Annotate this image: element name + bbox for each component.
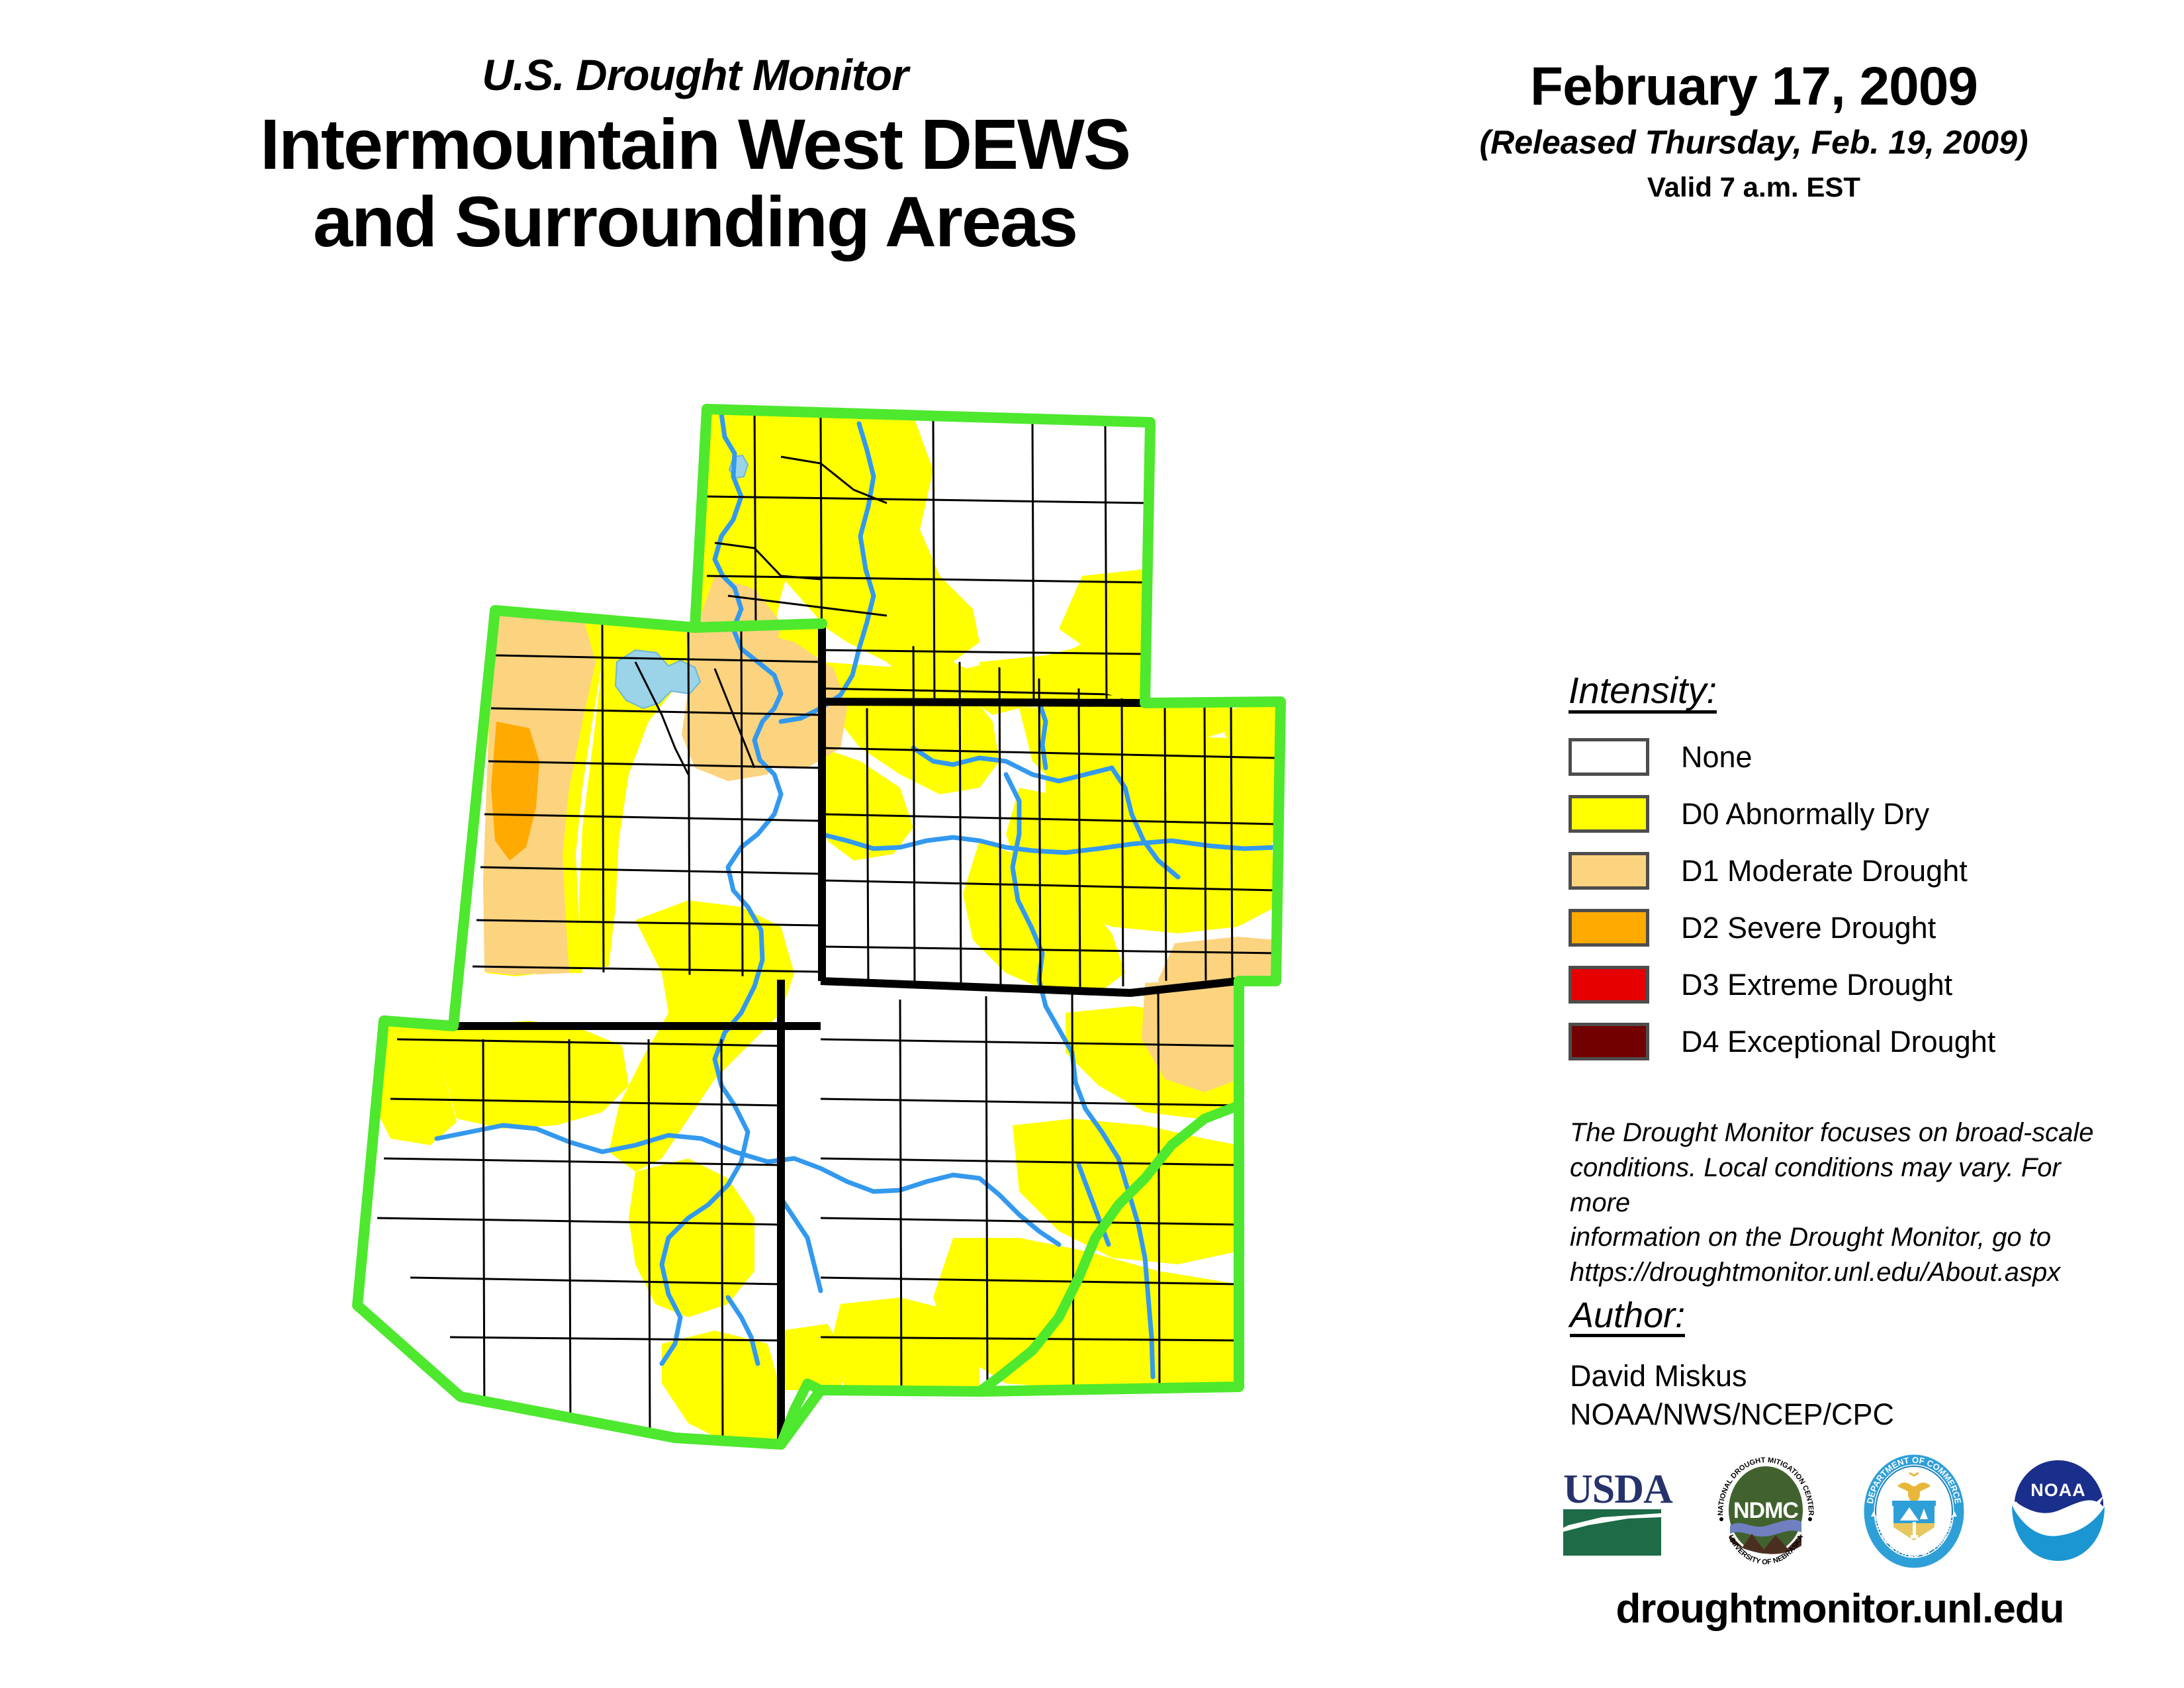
legend-swatch-none bbox=[1569, 738, 1649, 776]
legend-item-d1[interactable]: D1 Moderate Drought bbox=[1569, 850, 2111, 891]
department-of-commerce-seal[interactable]: DEPARTMENT OF COMMERCE UNITED STATES OF … bbox=[1858, 1453, 1970, 1572]
svg-text:NOAA: NOAA bbox=[2030, 1480, 2086, 1500]
legend-item-d3[interactable]: D3 Extreme Drought bbox=[1569, 964, 2111, 1005]
legend-item-d0[interactable]: D0 Abnormally Dry bbox=[1569, 793, 2111, 834]
legend-label-d4: D4 Exceptional Drought bbox=[1681, 1027, 1995, 1056]
legend-item-d2[interactable]: D2 Severe Drought bbox=[1569, 907, 2111, 948]
title-block: U.S. Drought Monitor Intermountain West … bbox=[99, 53, 1291, 260]
legend-swatch-d0 bbox=[1569, 795, 1649, 833]
page-title-line-2: and Surrounding Areas bbox=[99, 183, 1291, 261]
svg-text:USDA: USDA bbox=[1563, 1467, 1673, 1512]
disclaimer-line-2: conditions. Local conditions may vary. F… bbox=[1570, 1150, 2119, 1221]
disclaimer-url[interactable]: https://droughtmonitor.unl.edu/About.asp… bbox=[1570, 1255, 2119, 1290]
svg-text:NDMC: NDMC bbox=[1733, 1498, 1798, 1523]
date-block: February 17, 2009 (Released Thursday, Fe… bbox=[1410, 60, 2098, 201]
legend-swatch-d2 bbox=[1569, 909, 1649, 947]
author-name: David Miskus bbox=[1570, 1357, 2099, 1395]
issue-date: February 17, 2009 bbox=[1410, 60, 2098, 114]
legend-label-d0: D0 Abnormally Dry bbox=[1681, 799, 1929, 829]
drought-map[interactable] bbox=[318, 377, 1310, 1589]
legend-swatch-d3 bbox=[1569, 966, 1649, 1004]
product-name: U.S. Drought Monitor bbox=[99, 53, 1291, 97]
page-title-line-1: Intermountain West DEWS bbox=[99, 106, 1291, 183]
logo-row: USDA NDMC NATIONAL DROUGHT MITIGATION CE… bbox=[1562, 1453, 2111, 1572]
legend-label-d1: D1 Moderate Drought bbox=[1681, 856, 1968, 886]
legend-item-none[interactable]: None bbox=[1569, 736, 2111, 777]
noaa-logo[interactable]: NOAA bbox=[2005, 1455, 2111, 1571]
legend: Intensity: None D0 Abnormally Dry D1 Mod… bbox=[1569, 672, 2111, 1078]
release-date: (Released Thursday, Feb. 19, 2009) bbox=[1410, 126, 2098, 159]
map-canvas[interactable] bbox=[318, 377, 1310, 1589]
author-block: Author: David Miskus NOAA/NWS/NCEP/CPC bbox=[1570, 1297, 2099, 1433]
footer-url[interactable]: droughtmonitor.unl.edu bbox=[1562, 1589, 2118, 1630]
legend-label-none: None bbox=[1681, 742, 1752, 772]
valid-time: Valid 7 a.m. EST bbox=[1410, 173, 2098, 201]
legend-swatch-d1 bbox=[1569, 852, 1649, 890]
author-affiliation: NOAA/NWS/NCEP/CPC bbox=[1570, 1395, 2099, 1434]
legend-item-d4[interactable]: D4 Exceptional Drought bbox=[1569, 1021, 2111, 1062]
author-title: Author: bbox=[1570, 1297, 1685, 1337]
legend-title: Intensity: bbox=[1569, 672, 1717, 714]
legend-label-d2: D2 Severe Drought bbox=[1681, 913, 1936, 943]
usda-logo[interactable]: USDA bbox=[1562, 1462, 1674, 1564]
disclaimer-text: The Drought Monitor focuses on broad-sca… bbox=[1570, 1115, 2119, 1290]
disclaimer-line-1: The Drought Monitor focuses on broad-sca… bbox=[1570, 1115, 2119, 1150]
page-title: Intermountain West DEWS and Surrounding … bbox=[99, 106, 1291, 260]
legend-label-d3: D3 Extreme Drought bbox=[1681, 970, 1952, 1000]
disclaimer-line-3: information on the Drought Monitor, go t… bbox=[1570, 1220, 2119, 1255]
legend-swatch-d4 bbox=[1569, 1023, 1649, 1060]
ndmc-logo[interactable]: NDMC NATIONAL DROUGHT MITIGATION CENTER … bbox=[1709, 1453, 1822, 1572]
